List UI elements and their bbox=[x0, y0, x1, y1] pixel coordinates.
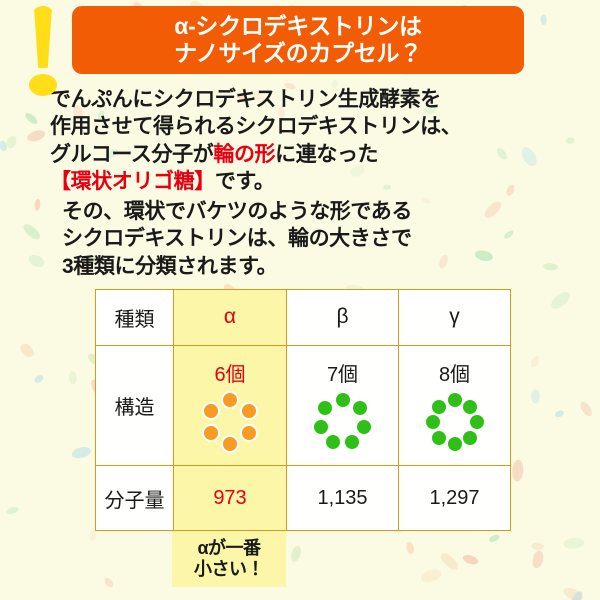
cell-structure-alpha: 6個 bbox=[174, 345, 287, 466]
banner-title: α-シクロデキストリンは ナノサイズのカプセル？ bbox=[174, 13, 422, 66]
glucose-dot bbox=[353, 401, 367, 415]
table-row-structure: 構造 6個 7個 8個 bbox=[96, 345, 511, 466]
paragraph-one-line-3b: に連なった bbox=[275, 143, 378, 166]
dot-ring-gamma bbox=[424, 391, 486, 453]
paragraph-one-line-3a: グルコース分子が bbox=[50, 143, 213, 166]
row-label-type: 種類 bbox=[96, 290, 174, 346]
cell-structure-gamma: 8個 bbox=[399, 345, 511, 466]
cell-mw-gamma: 1,297 bbox=[399, 466, 511, 531]
cyclodextrin-comparison-table: 種類 α β γ 構造 6個 7個 8個 分子量 973 1,135 1, bbox=[95, 289, 511, 531]
exclamation-mark-icon bbox=[22, 6, 66, 98]
cell-mw-beta: 1,135 bbox=[287, 466, 399, 531]
cell-mw-alpha: 973 bbox=[174, 466, 287, 531]
table-row-molecular-weight: 分子量 973 1,135 1,297 bbox=[96, 466, 511, 531]
glucose-dot bbox=[345, 435, 359, 449]
glucose-dot bbox=[470, 415, 484, 429]
cell-structure-beta: 7個 bbox=[287, 345, 399, 466]
glucose-dot bbox=[318, 401, 332, 415]
cell-type-beta: β bbox=[287, 290, 399, 346]
paragraph-one-line-4b: です。 bbox=[215, 170, 275, 193]
dot-ring-alpha bbox=[199, 391, 261, 453]
glucose-dot bbox=[314, 420, 328, 434]
glucose-dot bbox=[463, 431, 477, 445]
glucose-dot bbox=[204, 426, 218, 440]
glucose-dot bbox=[448, 393, 462, 407]
table-row-type: 種類 α β γ bbox=[96, 290, 511, 346]
highlight-cyclic-oligosaccharide: 【環状オリゴ糖】 bbox=[50, 170, 215, 193]
glucose-dot bbox=[223, 437, 237, 451]
highlight-ring-shape: 輪の形 bbox=[213, 143, 275, 166]
glucose-dot bbox=[432, 400, 446, 414]
glucose-dot bbox=[448, 437, 462, 451]
cell-type-gamma: γ bbox=[399, 290, 511, 346]
glucose-dot bbox=[463, 400, 477, 414]
glucose-dot bbox=[242, 404, 256, 418]
count-label-alpha: 6個 bbox=[174, 358, 286, 387]
callout-text: αが一番 小さい！ bbox=[194, 538, 264, 580]
paragraph-one-line-1: でんぷんにシクロデキストリン生成酵素を bbox=[50, 88, 441, 111]
exclamation-bar bbox=[31, 6, 55, 68]
glucose-dot bbox=[242, 426, 256, 440]
glucose-dot bbox=[223, 393, 237, 407]
glucose-dot bbox=[336, 393, 350, 407]
paragraph-one-line-2: 作用させて得られるシクロデキストリンは、 bbox=[50, 115, 461, 138]
row-label-structure: 構造 bbox=[96, 345, 174, 466]
paragraph-one: でんぷんにシクロデキストリン生成酵素を作用させて得られるシクロデキストリンは、グ… bbox=[50, 86, 461, 195]
count-label-gamma: 8個 bbox=[399, 358, 510, 387]
cell-type-alpha: α bbox=[174, 290, 287, 346]
glucose-dot bbox=[357, 420, 371, 434]
glucose-dot bbox=[432, 431, 446, 445]
paragraph-two: その、環状でバケツのような形である シクロデキストリンは、輪の大きさで 3種類に… bbox=[62, 198, 412, 280]
header-banner: α-シクロデキストリンは ナノサイズのカプセル？ bbox=[72, 6, 524, 74]
count-label-beta: 7個 bbox=[287, 358, 398, 387]
row-label-molecular-weight: 分子量 bbox=[96, 466, 174, 531]
glucose-dot bbox=[204, 404, 218, 418]
callout-box: αが一番 小さい！ bbox=[172, 531, 286, 587]
dot-ring-beta bbox=[312, 391, 374, 453]
exclamation-dot bbox=[29, 74, 57, 96]
glucose-dot bbox=[426, 415, 440, 429]
glucose-dot bbox=[326, 435, 340, 449]
